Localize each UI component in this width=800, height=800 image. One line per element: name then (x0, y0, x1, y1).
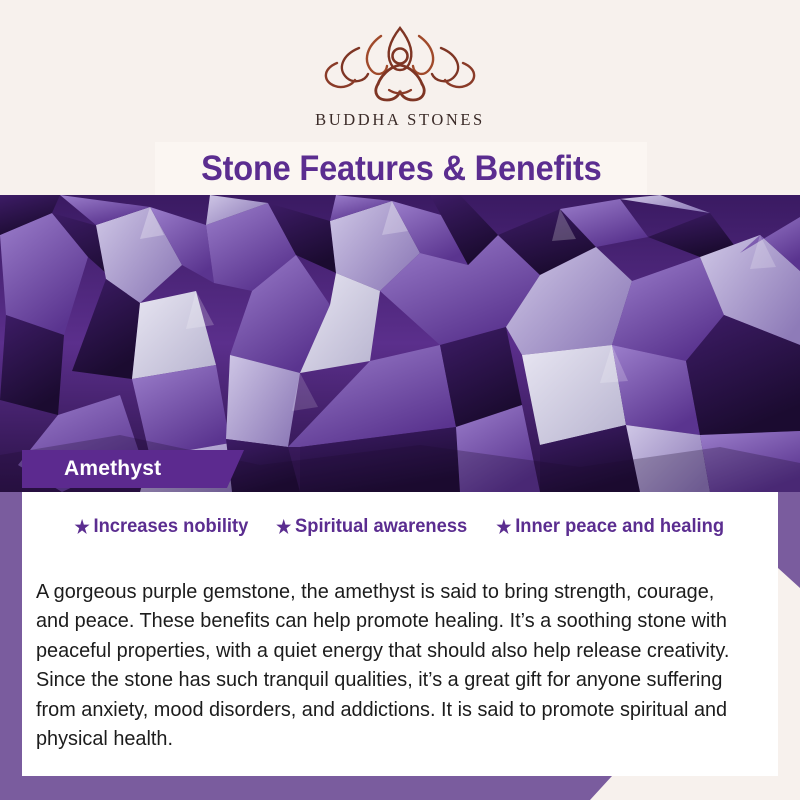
page-title: Stone Features & Benefits (201, 149, 602, 189)
star-icon: ★ (74, 518, 89, 536)
stone-description: A gorgeous purple gemstone, the amethyst… (36, 577, 740, 754)
page-title-band: Stone Features & Benefits (155, 142, 647, 195)
benefit-item-3: ★ Inner peace and healing (496, 515, 724, 538)
decorative-border-bottom (0, 776, 612, 800)
benefit-item-2: ★ Spiritual awareness (276, 515, 467, 538)
stone-name-banner: Amethyst (22, 450, 244, 488)
benefit-label: Inner peace and healing (515, 515, 724, 538)
benefit-label: Spiritual awareness (295, 515, 467, 538)
brand-name: BUDDHA STONES (315, 110, 485, 130)
benefit-label: Increases nobility (93, 515, 248, 538)
infographic-canvas: BUDDHA STONES Stone Features & Benefits (0, 0, 800, 800)
star-icon: ★ (276, 518, 291, 536)
decorative-border-left (0, 488, 22, 800)
benefit-item-1: ★ Increases nobility (74, 515, 248, 538)
star-icon: ★ (496, 518, 511, 536)
lotus-meditation-icon (315, 22, 485, 106)
benefits-list: ★ Increases nobility ★ Spiritual awarene… (22, 515, 778, 538)
stone-name: Amethyst (64, 457, 161, 481)
amethyst-crystal-cluster-photo (0, 195, 800, 492)
